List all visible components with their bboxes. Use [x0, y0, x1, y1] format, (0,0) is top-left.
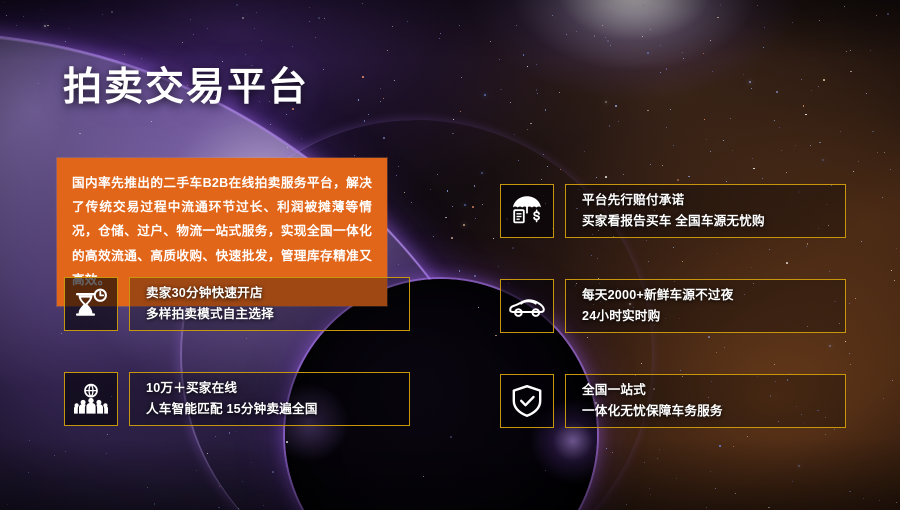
feature-line-2: 多样拍卖模式自主选择	[146, 304, 409, 325]
globe-people-icon	[74, 383, 108, 415]
page-title: 拍卖交易平台	[63, 56, 309, 112]
feature-buyers-online-label: 10万＋买家在线 人车智能匹配 15分钟卖遍全国	[129, 372, 410, 426]
feature-line-1: 卖家30分钟快速开店	[146, 283, 409, 304]
feature-one-stop-service-label: 全国一站式 一体化无忧保障车务服务	[565, 374, 846, 428]
intro-paragraph: 国内率先推出的二手车B2B在线拍卖服务平台，解决了传统交易过程中流通环节过长、利…	[72, 171, 372, 292]
feature-compensation-promise-label: 平台先行赔付承诺 买家看报告买车 全国车源无忧购	[565, 184, 846, 238]
feature-fresh-cars[interactable]: 每天2000+新鲜车源不过夜 24小时实时购	[500, 279, 846, 333]
feature-line-2: 24小时实时购	[582, 306, 845, 327]
globe-people-icon-box	[64, 372, 118, 426]
feature-line-1: 平台先行赔付承诺	[582, 190, 845, 211]
feature-line-1: 每天2000+新鲜车源不过夜	[582, 285, 845, 306]
feature-seller-shop-label: 卖家30分钟快速开店 多样拍卖模式自主选择	[129, 277, 410, 331]
hourglass-clock-icon-box	[64, 277, 118, 331]
shield-check-icon-box	[500, 374, 554, 428]
slide-content: 拍卖交易平台 国内率先推出的二手车B2B在线拍卖服务平台，解决了传统交易过程中流…	[0, 0, 900, 510]
feature-line-2: 人车智能匹配 15分钟卖遍全国	[146, 399, 409, 420]
feature-compensation-promise[interactable]: 平台先行赔付承诺 买家看报告买车 全国车源无忧购	[500, 184, 846, 238]
hourglass-clock-icon	[74, 288, 108, 320]
feature-buyers-online[interactable]: 10万＋买家在线 人车智能匹配 15分钟卖遍全国	[64, 372, 410, 426]
shield-check-icon	[511, 384, 543, 418]
feature-one-stop-service[interactable]: 全国一站式 一体化无忧保障车务服务	[500, 374, 846, 428]
feature-line-1: 10万＋买家在线	[146, 378, 409, 399]
feature-line-2: 买家看报告买车 全国车源无忧购	[582, 211, 845, 232]
umbrella-document-dollar-icon-box	[500, 184, 554, 238]
feature-line-1: 全国一站式	[582, 380, 845, 401]
feature-line-2: 一体化无忧保障车务服务	[582, 401, 845, 422]
car-icon	[508, 292, 546, 320]
slide-canvas: 拍卖交易平台 国内率先推出的二手车B2B在线拍卖服务平台，解决了传统交易过程中流…	[0, 0, 900, 510]
feature-seller-shop[interactable]: 卖家30分钟快速开店 多样拍卖模式自主选择	[64, 277, 410, 331]
car-icon-box	[500, 279, 554, 333]
feature-fresh-cars-label: 每天2000+新鲜车源不过夜 24小时实时购	[565, 279, 846, 333]
umbrella-document-dollar-icon	[509, 195, 545, 227]
